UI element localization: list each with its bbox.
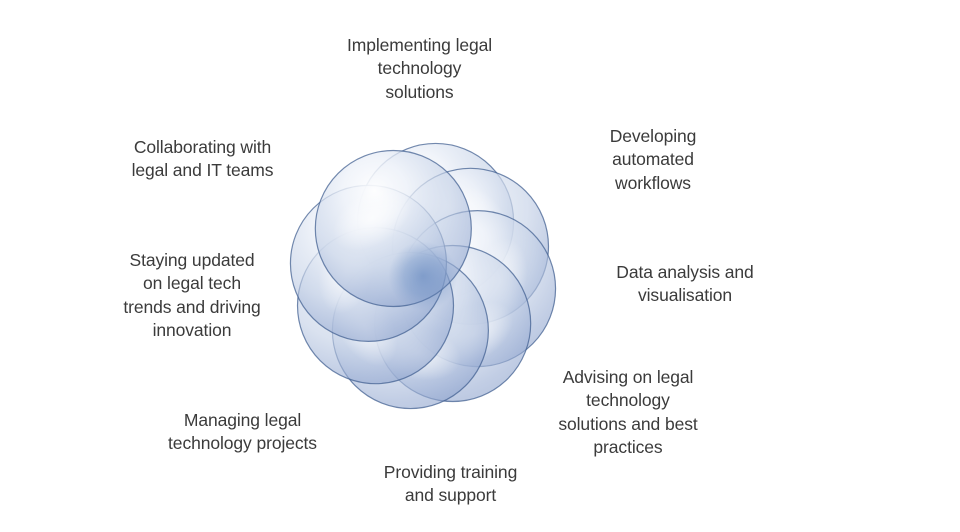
label-developing-automated-workflows: Developing automated workflows	[558, 125, 748, 195]
label-staying-updated-on-legal-tech-trends-and-driving-innovation: Staying updated on legal tech trends and…	[92, 249, 292, 342]
label-collaborating-with-legal-and-it-teams: Collaborating with legal and IT teams	[105, 136, 300, 183]
core-overlap	[388, 241, 457, 310]
label-implementing-legal-technology-solutions: Implementing legal technology solutions	[282, 34, 557, 104]
label-managing-legal-technology-projects: Managing legal technology projects	[135, 409, 350, 456]
core-overlap-highlight	[388, 241, 457, 310]
overlapping-circles-svg	[291, 144, 555, 408]
label-advising-on-legal-technology-solutions-and-best-practices: Advising on legal technology solutions a…	[518, 366, 738, 459]
label-providing-training-and-support: Providing training and support	[338, 461, 563, 508]
label-data-analysis-and-visualisation: Data analysis and visualisation	[580, 261, 790, 308]
diagram-canvas: Implementing legal technology solutions …	[0, 0, 960, 532]
overlapping-circles-graphic	[291, 144, 555, 408]
